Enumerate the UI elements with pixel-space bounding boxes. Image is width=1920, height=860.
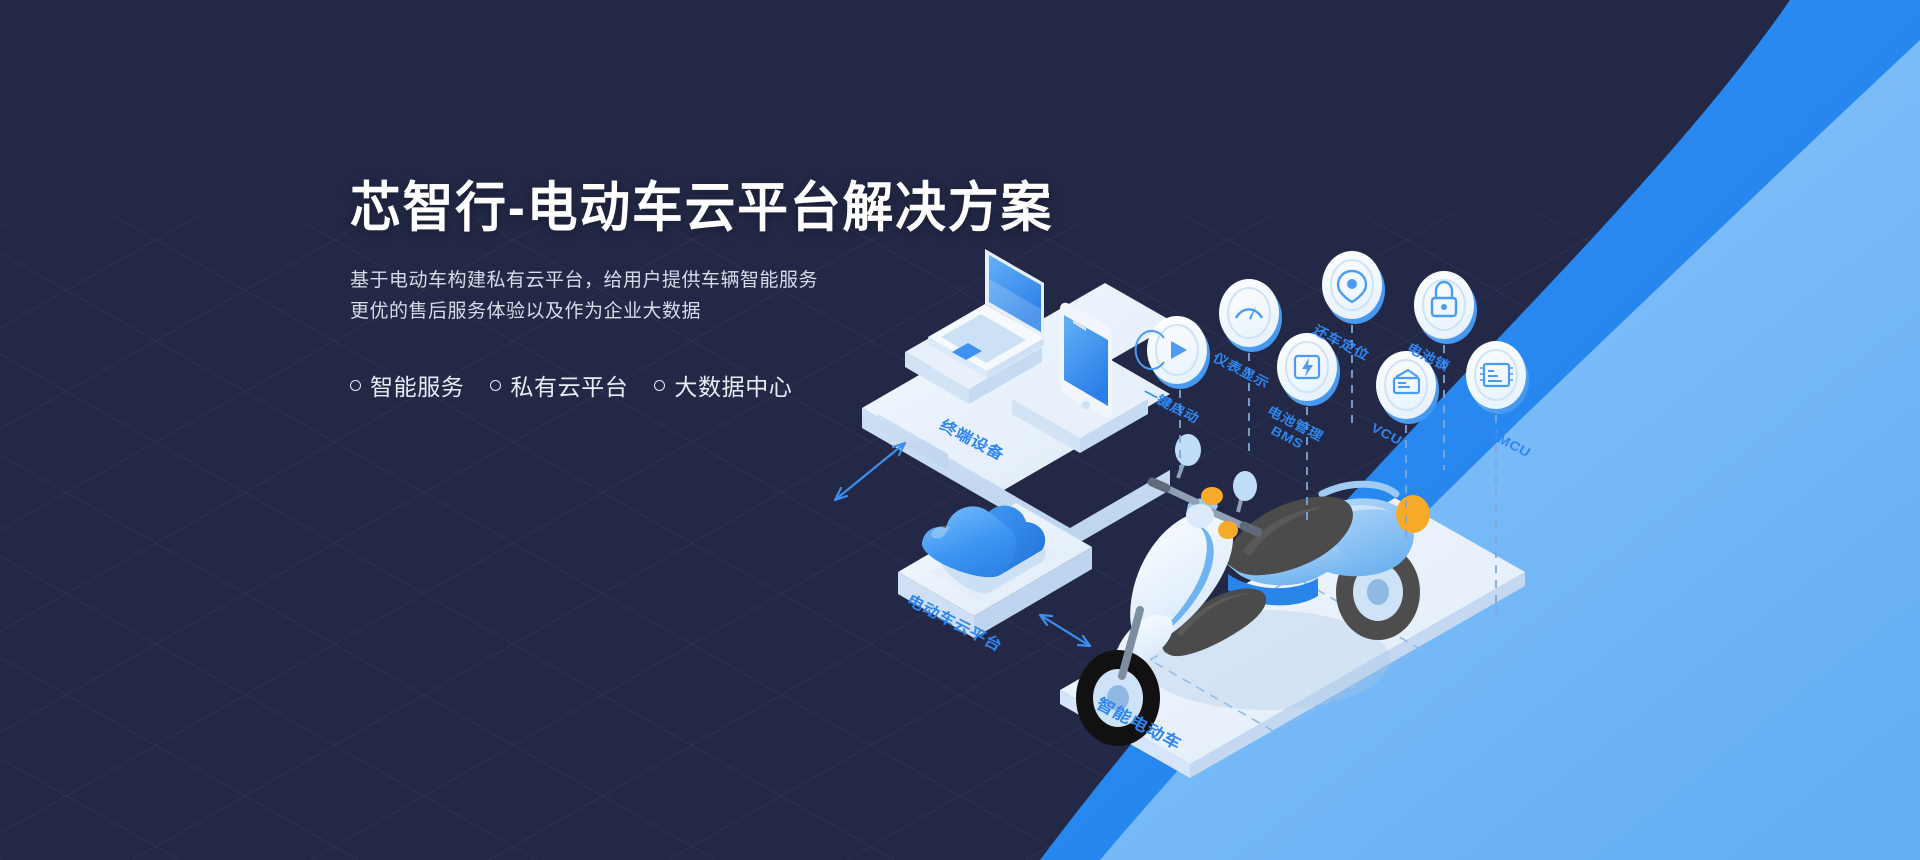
feature-label: 智能服务 xyxy=(370,368,464,402)
subtitle-line-1: 基于电动车构建私有云平台，给用户提供车辆智能服务 xyxy=(350,266,1110,297)
wave-light xyxy=(1100,40,1920,860)
feature-item-smart-service[interactable]: 智能服务 xyxy=(350,368,464,402)
background-wave-shapes xyxy=(0,0,1920,860)
feature-label: 私有云平台 xyxy=(510,368,628,402)
hero-banner: 芯智行-电动车云平台解决方案 基于电动车构建私有云平台，给用户提供车辆智能服务 … xyxy=(0,0,1920,860)
hero-copy: 芯智行-电动车云平台解决方案 基于电动车构建私有云平台，给用户提供车辆智能服务 … xyxy=(350,178,1110,402)
subtitle-line-2: 更优的售后服务体验以及作为企业大数据 xyxy=(350,297,1110,328)
feature-label: 大数据中心 xyxy=(674,368,792,402)
feature-item-private-cloud[interactable]: 私有云平台 xyxy=(490,368,628,402)
feature-list: 智能服务 私有云平台 大数据中心 xyxy=(350,368,1110,402)
circle-outline-icon xyxy=(654,380,665,391)
circle-outline-icon xyxy=(490,380,501,391)
hero-subtitle: 基于电动车构建私有云平台，给用户提供车辆智能服务 更优的售后服务体验以及作为企业… xyxy=(350,266,1110,328)
feature-item-big-data-center[interactable]: 大数据中心 xyxy=(654,368,792,402)
page-title: 芯智行-电动车云平台解决方案 xyxy=(350,178,1064,238)
circle-outline-icon xyxy=(350,380,361,391)
